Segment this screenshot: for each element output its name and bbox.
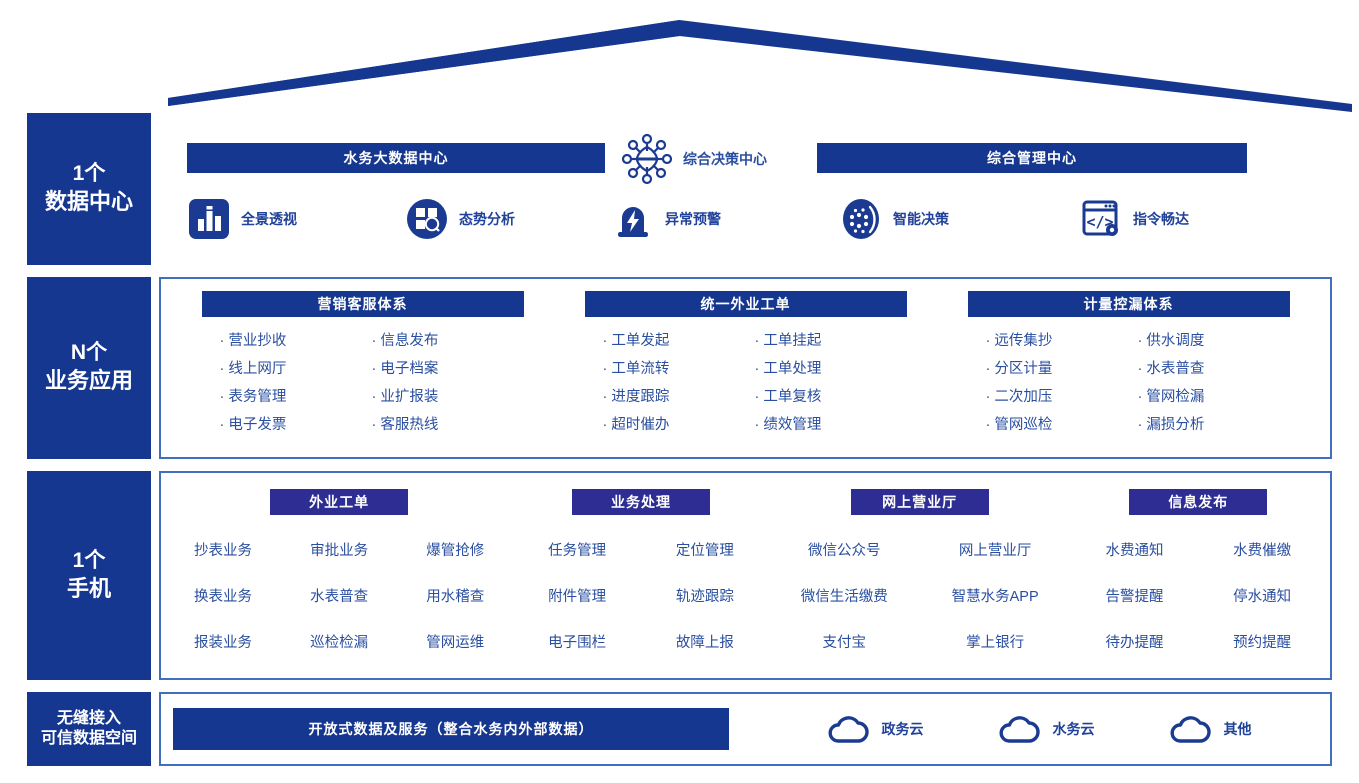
bar-chart-icon (187, 197, 231, 241)
grid-search-icon (405, 197, 449, 241)
mobile-item[interactable]: 水表普查 (310, 585, 368, 606)
data-center-panel: 水务大数据中心 (159, 113, 1332, 265)
app-item[interactable]: 工单处理 (755, 357, 822, 378)
mobile-item[interactable]: 预约提醒 (1233, 631, 1291, 652)
app-group-header[interactable]: 计量控漏体系 (968, 291, 1290, 317)
side-label-data-center: 1个 数据中心 (27, 113, 151, 265)
app-item[interactable]: 水表普查 (1138, 357, 1205, 378)
feature-label: 智能决策 (893, 209, 949, 229)
app-item[interactable]: 客服热线 (372, 413, 439, 434)
mobile-item[interactable]: 待办提醒 (1105, 631, 1163, 652)
cloud-list: 政务云 水务云 其他 (729, 713, 1318, 745)
side-label-line2: 数据中心 (45, 188, 133, 216)
mobile-item[interactable]: 告警提醒 (1105, 585, 1163, 606)
mobile-item[interactable]: 管网运维 (426, 631, 484, 652)
mobile-item[interactable]: 停水通知 (1233, 585, 1291, 606)
mobile-group-header[interactable]: 外业工单 (270, 489, 408, 515)
mobile-item[interactable]: 巡检检漏 (310, 631, 368, 652)
cloud-icon (997, 713, 1041, 745)
mobile-item-grid: 水费通知 水费催缴 告警提醒 停水通知 待办提醒 预约提醒 (1071, 539, 1326, 652)
mobile-item[interactable]: 微信生活缴费 (801, 585, 888, 606)
mobile-item[interactable]: 智慧水务APP (952, 585, 1039, 606)
mobile-item-grid: 任务管理 定位管理 附件管理 轨迹跟踪 电子围栏 故障上报 (513, 539, 768, 652)
feature-label: 异常预警 (665, 209, 721, 229)
mobile-group-header[interactable]: 信息发布 (1129, 489, 1267, 515)
alarm-lightning-icon (611, 197, 655, 241)
row-data-center: 1个 数据中心 水务大数据中心 (27, 113, 1332, 265)
side-label-line1: 1个 (73, 161, 106, 188)
mobile-item-grid: 微信公众号 网上营业厅 微信生活缴费 智慧水务APP 支付宝 掌上银行 (769, 539, 1071, 652)
cloud-label: 水务云 (1053, 719, 1095, 739)
mobile-item[interactable]: 换表业务 (194, 585, 252, 606)
cloud-label: 其他 (1224, 719, 1252, 739)
app-item[interactable]: 绩效管理 (755, 413, 822, 434)
mobile-item[interactable]: 审批业务 (310, 539, 368, 560)
side-label-line2: 手机 (67, 575, 111, 603)
bar-water-bigdata-center[interactable]: 水务大数据中心 (187, 143, 605, 173)
mobile-group-info-publish: 信息发布 水费通知 水费催缴 告警提醒 停水通知 待办提醒 预约提醒 (1071, 489, 1326, 670)
cloud-other[interactable]: 其他 (1168, 713, 1252, 745)
app-group-header[interactable]: 营销客服体系 (202, 291, 524, 317)
feature-command-delivery[interactable]: </> 指令畅达 (1079, 197, 1189, 241)
side-label-line2: 业务应用 (45, 367, 133, 395)
mobile-item[interactable]: 微信公众号 (808, 539, 881, 560)
side-label-line1: 1个 (73, 548, 106, 575)
page-title: 云智联智慧水务平台 (0, 52, 1359, 92)
app-item[interactable]: 表务管理 (220, 385, 287, 406)
mobile-item[interactable]: 电子围栏 (548, 631, 606, 652)
feature-label: 态势分析 (459, 209, 515, 229)
mobile-item[interactable]: 网上营业厅 (959, 539, 1032, 560)
header-banner: 云智联智慧水务平台 (0, 0, 1359, 112)
side-label-line1: 无缝接入 (57, 709, 121, 729)
feature-situation-analysis[interactable]: 态势分析 (405, 197, 515, 241)
app-item-grid: 营业抄收 信息发布 线上网厅 电子档案 表务管理 业扩报装 电子发票 客服热线 (202, 329, 524, 434)
app-item[interactable]: 管网巡检 (986, 413, 1053, 434)
app-group-header[interactable]: 统一外业工单 (585, 291, 907, 317)
row-business-apps: N个 业务应用 营销客服体系 营业抄收 信息发布 线上网厅 电子档案 表务管理 … (27, 277, 1332, 459)
app-item[interactable]: 电子发票 (220, 413, 287, 434)
app-group-marketing: 营销客服体系 营业抄收 信息发布 线上网厅 电子档案 表务管理 业扩报装 电子发… (171, 291, 554, 449)
mobile-item[interactable]: 支付宝 (822, 631, 866, 652)
app-item[interactable]: 漏损分析 (1138, 413, 1205, 434)
cloud-water[interactable]: 水务云 (997, 713, 1095, 745)
app-item[interactable]: 电子档案 (372, 357, 439, 378)
mobile-panel: 外业工单 抄表业务 审批业务 爆管抢修 换表业务 水表普查 用水稽查 报装业务 … (159, 471, 1332, 680)
app-item[interactable]: 管网检漏 (1138, 385, 1205, 406)
mobile-group-online-hall: 网上营业厅 微信公众号 网上营业厅 微信生活缴费 智慧水务APP 支付宝 掌上银… (769, 489, 1071, 670)
mobile-item[interactable]: 报装业务 (194, 631, 252, 652)
data-center-icon-row: 全景透视 态势分析 (159, 197, 1332, 253)
cloud-government[interactable]: 政务云 (826, 713, 924, 745)
feature-anomaly-alert[interactable]: 异常预警 (611, 197, 721, 241)
app-item[interactable]: 远传集抄 (986, 329, 1053, 350)
cloud-label: 政务云 (882, 719, 924, 739)
app-item[interactable]: 分区计量 (986, 357, 1053, 378)
app-item-grid: 远传集抄 供水调度 分区计量 水表普查 二次加压 管网检漏 管网巡检 漏损分析 (968, 329, 1290, 434)
app-item[interactable]: 二次加压 (986, 385, 1053, 406)
mobile-item[interactable]: 掌上银行 (966, 631, 1024, 652)
code-window-gear-icon: </> (1079, 197, 1123, 241)
bar-open-data-services[interactable]: 开放式数据及服务（整合水务内外部数据） (173, 708, 729, 750)
app-item[interactable]: 工单复核 (755, 385, 822, 406)
feature-smart-decision[interactable]: 智能决策 (839, 197, 949, 241)
mobile-item[interactable]: 用水稽查 (426, 585, 484, 606)
cloud-icon (1168, 713, 1212, 745)
app-item[interactable]: 信息发布 (372, 329, 439, 350)
mobile-item[interactable]: 轨迹跟踪 (676, 585, 734, 606)
business-apps-panel: 营销客服体系 营业抄收 信息发布 线上网厅 电子档案 表务管理 业扩报装 电子发… (159, 277, 1332, 459)
app-item[interactable]: 工单挂起 (755, 329, 822, 350)
app-item[interactable]: 超时催办 (603, 413, 670, 434)
mobile-item[interactable]: 附件管理 (548, 585, 606, 606)
app-item[interactable]: 业扩报装 (372, 385, 439, 406)
side-label-line1: N个 (71, 340, 107, 367)
mobile-item[interactable]: 抄表业务 (194, 539, 252, 560)
mobile-item[interactable]: 水费催缴 (1233, 539, 1291, 560)
mobile-group-field-workorder: 外业工单 抄表业务 审批业务 爆管抢修 换表业务 水表普查 用水稽查 报装业务 … (165, 489, 513, 670)
mobile-item-grid: 抄表业务 审批业务 爆管抢修 换表业务 水表普查 用水稽查 报装业务 巡检检漏 … (165, 539, 513, 652)
decision-center-group: 综合决策中心 (621, 133, 767, 185)
app-item[interactable]: 工单流转 (603, 357, 670, 378)
access-panel: 开放式数据及服务（整合水务内外部数据） 政务云 水务云 (159, 692, 1332, 766)
app-item[interactable]: 营业抄收 (220, 329, 287, 350)
mobile-item[interactable]: 任务管理 (548, 539, 606, 560)
feature-label: 全景透视 (241, 209, 297, 229)
side-label-seamless-access: 无缝接入 可信数据空间 (27, 692, 151, 766)
mobile-item[interactable]: 故障上报 (676, 631, 734, 652)
feature-panorama[interactable]: 全景透视 (187, 197, 297, 241)
bar-integrated-management-center[interactable]: 综合管理中心 (817, 143, 1247, 173)
feature-label: 指令畅达 (1133, 209, 1189, 229)
decision-center-label: 综合决策中心 (683, 149, 767, 169)
app-group-field-workorder: 统一外业工单 工单发起 工单挂起 工单流转 工单处理 进度跟踪 工单复核 超时催… (554, 291, 937, 449)
app-item[interactable]: 进度跟踪 (603, 385, 670, 406)
mobile-group-header[interactable]: 网上营业厅 (851, 489, 989, 515)
row-seamless-access: 无缝接入 可信数据空间 开放式数据及服务（整合水务内外部数据） 政务云 (27, 692, 1332, 766)
app-item-grid: 工单发起 工单挂起 工单流转 工单处理 进度跟踪 工单复核 超时催办 绩效管理 (585, 329, 907, 434)
mobile-item[interactable]: 爆管抢修 (426, 539, 484, 560)
app-item[interactable]: 供水调度 (1138, 329, 1205, 350)
side-label-business-apps: N个 业务应用 (27, 277, 151, 459)
side-label-mobile: 1个 手机 (27, 471, 151, 680)
infographic-page: 云智联智慧水务平台 1个 数据中心 水务大数据中心 (0, 0, 1359, 783)
network-hub-icon (621, 133, 673, 185)
neural-network-icon (839, 197, 883, 241)
mobile-group-header[interactable]: 业务处理 (572, 489, 710, 515)
app-group-metering-leakage: 计量控漏体系 远传集抄 供水调度 分区计量 水表普查 二次加压 管网检漏 管网巡… (937, 291, 1320, 449)
app-item[interactable]: 线上网厅 (220, 357, 287, 378)
mobile-item[interactable]: 水费通知 (1105, 539, 1163, 560)
mobile-item[interactable]: 定位管理 (676, 539, 734, 560)
mobile-group-business-processing: 业务处理 任务管理 定位管理 附件管理 轨迹跟踪 电子围栏 故障上报 (513, 489, 768, 670)
cloud-icon (826, 713, 870, 745)
app-item[interactable]: 工单发起 (603, 329, 670, 350)
row-mobile: 1个 手机 外业工单 抄表业务 审批业务 爆管抢修 换表业务 水表普查 用水稽查… (27, 471, 1332, 680)
side-label-line2: 可信数据空间 (41, 729, 137, 749)
